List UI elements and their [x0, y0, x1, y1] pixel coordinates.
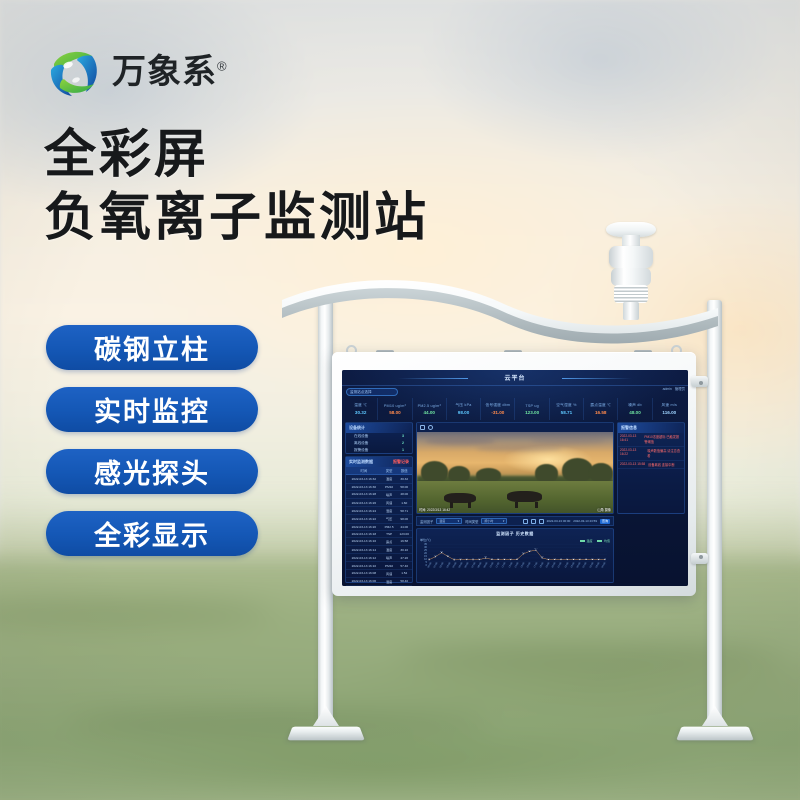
- svg-text:9.4: 9.4: [466, 558, 468, 560]
- table-cell: PM2.5: [382, 523, 397, 530]
- svg-text:15.1: 15.1: [446, 555, 449, 557]
- table-cell: 2022-03-13 16:20: [346, 523, 382, 530]
- device-stats-panel: 设备统计 在线设备3离线设备2报警设备1: [345, 422, 413, 454]
- metric-card-10: 风速 m/s116.00: [653, 398, 686, 420]
- video-timestamp: 时间: 2022/3/13 16:42: [419, 507, 450, 512]
- table-cell: 58.71: [396, 507, 412, 515]
- metric-card-5: 信号强度 dbm-31.00: [481, 398, 515, 420]
- table-row[interactable]: 2022-03-13 16:20PM2.544.00: [346, 523, 412, 530]
- table-cell: 风速: [382, 569, 397, 577]
- chart-unit-label: 单位(℃): [420, 538, 431, 542]
- alarm-log-message: 噪声数值偏高 请注意查看: [647, 448, 682, 458]
- dashboard-ui: 云平台 监测站点选择 admin 管理员 温度 ℃30.32PM10 ug/m³…: [342, 370, 688, 586]
- metric-card-2: PM10 ug/m³58.00: [378, 398, 412, 420]
- feature-pill-label: 碳钢立柱: [94, 328, 210, 367]
- metric-label: 风速 m/s: [653, 403, 686, 408]
- alarm-log-panel: 报警信息 2022-03-13 16:41PM10浓度超标 已触发报警阈值202…: [617, 422, 685, 514]
- table-cell: 2022-03-13 16:22: [346, 515, 382, 523]
- alarm-log-row[interactable]: 2022-03-13 16:41PM10浓度超标 已触发报警阈值: [618, 433, 684, 447]
- metric-value: 98.00: [447, 410, 480, 415]
- table-cell: 2022-03-13 16:32: [346, 475, 382, 483]
- device-stat-row: 在线设备3: [346, 433, 412, 440]
- chart-x-axis: 00:0001:0002:0003:0004:0005:0006:0007:00…: [427, 567, 607, 582]
- table-row[interactable]: 2022-03-13 16:16露点16.58: [346, 537, 412, 545]
- metric-card-8: 露点温度 ℃16.58: [584, 398, 618, 420]
- table-cell: 48.00: [396, 490, 412, 498]
- svg-text:9.4: 9.4: [566, 558, 568, 560]
- time-type-select-value: 按小时: [484, 519, 493, 523]
- table-column-header: 时间: [346, 467, 382, 475]
- line-icon[interactable]: [539, 519, 544, 524]
- svg-text:9.2: 9.2: [459, 558, 461, 560]
- base-plate-left: [287, 727, 365, 741]
- history-chart-panel: 监测因子 历史数据 单位(℃) 温度均值 35302520151050 9.21…: [416, 528, 614, 583]
- device-stat-row: 离线设备2: [346, 440, 412, 447]
- metric-value: 16.58: [584, 410, 617, 415]
- svg-text:14.5: 14.5: [434, 555, 437, 557]
- factor-label: 监测因子: [420, 519, 433, 524]
- device-stats-title-text: 设备统计: [349, 425, 365, 431]
- video-toolbar: [417, 423, 613, 432]
- metric-card-4: 气压 kPa98.00: [447, 398, 481, 420]
- metric-label: PM2.5 ug/m³: [413, 404, 446, 408]
- svg-text:9.3: 9.3: [478, 558, 480, 560]
- svg-text:24.2: 24.2: [528, 550, 531, 552]
- feature-pill-1[interactable]: 碳钢立柱: [46, 325, 258, 370]
- table-row[interactable]: 2022-03-13 16:12噪声47.20: [346, 554, 412, 562]
- metric-card-7: 空气湿度 %58.71: [550, 398, 584, 420]
- cattle-1: [444, 493, 475, 504]
- alarm-log-title-text: 报警信息: [621, 425, 637, 431]
- svg-text:12.2: 12.2: [484, 556, 487, 558]
- site-selector[interactable]: 监测站点选择: [346, 388, 398, 396]
- table-row[interactable]: 2022-03-13 16:14温度30.10: [346, 546, 412, 554]
- metric-value: 123.00: [515, 410, 548, 415]
- sensor-stem: [623, 302, 639, 320]
- realtime-data-title-text: 实时监测数据: [349, 459, 373, 465]
- legend-swatch: [597, 540, 602, 542]
- table-cell: 2022-03-13 16:30: [346, 483, 382, 490]
- time-type-select[interactable]: 按小时 ▾: [481, 518, 507, 524]
- alarm-log-time: 2022-03-13 15:58: [620, 462, 645, 467]
- feature-pill-2[interactable]: 实时监控: [46, 387, 258, 432]
- svg-text:9.1: 9.1: [472, 558, 474, 560]
- table-row[interactable]: 2022-03-13 16:28噪声48.00: [346, 490, 412, 498]
- table-cell: 噪声: [382, 554, 397, 562]
- table-cell: 湿度: [382, 507, 397, 515]
- device-stat-value: 2: [402, 441, 404, 446]
- table-cell: 温度: [382, 475, 397, 483]
- support-post-left: [318, 300, 333, 725]
- table-cell: 2022-03-13 16:12: [346, 554, 382, 562]
- table-cell: 2022-03-13 16:10: [346, 562, 382, 569]
- metric-label: 温度 ℃: [344, 403, 377, 408]
- alarm-log-message: PM10浓度超标 已触发报警阈值: [644, 434, 682, 444]
- alarm-log-time: 2022-03-13 16:41: [620, 434, 641, 444]
- header-accent-right: [562, 378, 632, 379]
- svg-text:26.4: 26.4: [534, 548, 537, 550]
- svg-text:9.8: 9.8: [491, 558, 493, 560]
- headline-block: 全彩屏 负氧离子监测站: [44, 124, 429, 251]
- table-cell: 2022-03-13 16:08: [346, 569, 382, 577]
- base-gusset-right: [702, 706, 728, 726]
- metric-value: 44.00: [413, 410, 446, 415]
- table-row[interactable]: 2022-03-13 16:24湿度58.71: [346, 507, 412, 515]
- feature-pill-label: 实时监控: [94, 390, 210, 429]
- table-cell: 2022-03-13 16:16: [346, 537, 382, 545]
- svg-text:9.0: 9.0: [453, 558, 455, 560]
- realtime-data-table: 时间类型数值 2022-03-13 16:32温度30.322022-03-13…: [346, 467, 412, 586]
- table-row[interactable]: 2022-03-13 16:32温度30.32: [346, 475, 412, 483]
- table-cell: 123.00: [396, 530, 412, 537]
- table-cell: 98.00: [396, 515, 412, 523]
- svg-text:9.2: 9.2: [428, 558, 430, 560]
- led-display-monitor: 云平台 监测站点选择 admin 管理员 温度 ℃30.32PM10 ug/m³…: [332, 352, 696, 596]
- bracket-bolt-bottom: [699, 555, 703, 559]
- metric-label: 露点温度 ℃: [584, 403, 617, 408]
- date-to[interactable]: 2022-03-13 23:59: [573, 519, 597, 523]
- bracket-bolt-top: [699, 381, 703, 385]
- table-cell: PM10: [382, 483, 397, 490]
- brand-lockup: 万象系®: [46, 44, 228, 100]
- video-feed[interactable]: 时间: 2022/3/13 16:42 山角 摄像: [417, 432, 613, 513]
- snapshot-icon[interactable]: [428, 425, 433, 430]
- metric-label: 噪声 db: [618, 403, 651, 408]
- alarm-log-row[interactable]: 2022-03-13 15:58设备离线 连接中断: [618, 461, 684, 470]
- feature-pill-3[interactable]: 感光探头: [46, 449, 258, 494]
- metric-value: -31.00: [481, 410, 514, 415]
- dashboard-header: 云平台: [342, 370, 688, 386]
- feature-pill-label: 全彩显示: [94, 514, 210, 553]
- site-selector-label: 监测站点选择: [350, 390, 372, 395]
- table-cell: 噪声: [382, 490, 397, 498]
- y-tick-label: 0: [417, 564, 427, 567]
- search-button[interactable]: 查询: [600, 519, 610, 524]
- chevron-down-icon: ▾: [458, 519, 460, 523]
- chart-y-axis: 35302520151050: [417, 543, 427, 566]
- table-cell: 30.10: [396, 546, 412, 554]
- svg-text:19.6: 19.6: [522, 552, 525, 554]
- dashboard-title: 云平台: [504, 373, 525, 382]
- table-cell: 2022-03-13 16:06: [346, 577, 382, 585]
- table-column-header: 类型: [382, 467, 397, 475]
- headline-line-2: 负氧离子监测站: [44, 187, 429, 250]
- feature-pill-label: 感光探头: [94, 452, 210, 491]
- sensor-body: [609, 246, 653, 268]
- table-cell: 风速: [382, 498, 397, 506]
- support-post-right: [707, 300, 722, 725]
- table-cell: 气压: [382, 515, 397, 523]
- table-row[interactable]: 2022-03-13 16:26风速1.60: [346, 498, 412, 506]
- alarm-log-time: 2022-03-13 16:22: [620, 448, 644, 458]
- table-cell: 57.40: [396, 562, 412, 569]
- factor-select[interactable]: 温度 ▾: [436, 518, 462, 524]
- radiation-shield-fins: [614, 285, 648, 303]
- monitor-bezel: 云平台 监测站点选择 admin 管理员 温度 ℃30.32PM10 ug/m³…: [332, 352, 696, 596]
- metric-value: 116.00: [653, 410, 686, 415]
- realtime-data-panel: 实时监测数据 报警记录 时间类型数值 2022-03-13 16:32温度30.…: [345, 456, 413, 583]
- svg-text:9.4: 9.4: [547, 558, 549, 560]
- alarm-records-link[interactable]: 报警记录: [393, 459, 409, 465]
- table-cell: 2022-03-13 16:28: [346, 490, 382, 498]
- table-cell: 30.32: [396, 475, 412, 483]
- svg-text:9.4: 9.4: [579, 558, 581, 560]
- user-role: 管理员: [675, 386, 685, 391]
- metric-value: 58.00: [378, 410, 411, 415]
- table-column-header: 数值: [396, 467, 412, 475]
- table-row[interactable]: 2022-03-13 16:30PM1058.00: [346, 483, 412, 490]
- table-cell: 2022-03-13 16:26: [346, 498, 382, 506]
- metric-card-1: 温度 ℃30.32: [344, 398, 378, 420]
- chart-control-bar: 监测因子 温度 ▾ 时间类型 按小时 ▾: [416, 516, 614, 526]
- device-stat-label: 报警设备: [354, 448, 368, 453]
- table-cell: 47.20: [396, 554, 412, 562]
- table-cell: PM10: [382, 562, 397, 569]
- sensor-body-lower: [611, 268, 651, 286]
- svg-text:9.3: 9.3: [604, 558, 606, 560]
- headline-line-1: 全彩屏: [44, 124, 429, 187]
- table-cell: 温度: [382, 546, 397, 554]
- metric-card-3: PM2.5 ug/m³44.00: [413, 398, 447, 420]
- device-stat-value: 3: [402, 434, 404, 439]
- metrics-strip: 温度 ℃30.32PM10 ug/m³58.00PM2.5 ug/m³44.00…: [344, 398, 686, 420]
- metric-label: PM10 ug/m³: [378, 404, 411, 408]
- metric-label: 信号强度 dbm: [481, 403, 514, 408]
- svg-text:9.4: 9.4: [598, 558, 600, 560]
- table-icon[interactable]: [523, 519, 528, 524]
- table-cell: 湿度: [382, 577, 397, 585]
- alarm-log-message: 设备离线 连接中断: [648, 462, 674, 467]
- metric-label: 气压 kPa: [447, 403, 480, 408]
- registered-mark: ®: [217, 59, 228, 74]
- device-stat-row: 报警设备1: [346, 447, 412, 454]
- table-cell: 58.00: [396, 483, 412, 490]
- video-panel: 时间: 2022/3/13 16:42 山角 摄像: [416, 422, 614, 514]
- svg-text:9.3: 9.3: [560, 558, 562, 560]
- factor-select-value: 温度: [439, 519, 445, 523]
- metric-label: TSP ug: [515, 404, 548, 408]
- table-row[interactable]: 2022-03-13 16:18TSP123.00: [346, 530, 412, 537]
- feature-pill-list: 碳钢立柱实时监控感光探头全彩显示: [46, 325, 258, 556]
- video-camera-tag: 山角 摄像: [597, 507, 611, 512]
- device-stat-value: 1: [402, 448, 404, 453]
- realtime-data-title: 实时监测数据 报警记录: [346, 457, 412, 467]
- base-gusset-left: [313, 706, 339, 726]
- metric-card-6: TSP ug123.00: [515, 398, 549, 420]
- metric-label: 空气湿度 %: [550, 403, 583, 408]
- user-name: admin: [663, 387, 672, 391]
- brand-name-text: 万象系: [112, 53, 217, 91]
- table-cell: 2022-03-13 16:24: [346, 507, 382, 515]
- table-cell: 2022-03-13 16:18: [346, 530, 382, 537]
- table-cell: 露点: [382, 537, 397, 545]
- metric-value: 48.00: [618, 410, 651, 415]
- bar-icon[interactable]: [531, 519, 536, 524]
- user-info[interactable]: admin 管理员: [663, 386, 685, 391]
- metric-value: 30.32: [344, 410, 377, 415]
- header-accent-left: [398, 378, 468, 379]
- chevron-down-icon: ▾: [503, 519, 505, 523]
- display-screen[interactable]: 云平台 监测站点选择 admin 管理员 温度 ℃30.32PM10 ug/m³…: [342, 370, 688, 586]
- device-stat-label: 离线设备: [354, 441, 368, 446]
- table-row[interactable]: 2022-03-13 16:06湿度58.40: [346, 577, 412, 585]
- base-plate-right: [676, 727, 754, 741]
- device-stats-title: 设备统计: [346, 423, 412, 433]
- brand-name: 万象系®: [112, 55, 228, 89]
- chart-title: 监测因子 历史数据: [496, 531, 534, 537]
- table-cell: 44.00: [396, 523, 412, 530]
- chart-header: 监测因子 历史数据: [417, 529, 613, 538]
- feature-pill-4[interactable]: 全彩显示: [46, 511, 258, 556]
- table-cell: 1.52: [396, 569, 412, 577]
- table-row[interactable]: 2022-03-13 16:08风速1.52: [346, 569, 412, 577]
- metric-card-9: 噪声 db48.00: [618, 398, 652, 420]
- device-stat-label: 在线设备: [354, 434, 368, 439]
- table-cell: 1.60: [396, 498, 412, 506]
- globe-swirl-icon: [46, 44, 102, 100]
- ultrasonic-weather-sensor-icon: [600, 222, 662, 314]
- legend-swatch: [580, 540, 585, 542]
- date-from[interactable]: 2022-03-13 00:00: [547, 519, 571, 523]
- table-cell: 2022-03-13 16:14: [346, 546, 382, 554]
- table-cell: TSP: [382, 530, 397, 537]
- fullscreen-icon[interactable]: [420, 425, 425, 430]
- table-cell: 16.58: [396, 537, 412, 545]
- table-row[interactable]: 2022-03-13 16:10PM1057.40: [346, 562, 412, 569]
- alarm-log-title: 报警信息: [618, 423, 684, 433]
- metric-value: 58.71: [550, 410, 583, 415]
- alarm-log-row[interactable]: 2022-03-13 16:22噪声数值偏高 请注意查看: [618, 447, 684, 461]
- table-row[interactable]: 2022-03-13 16:22气压98.00: [346, 515, 412, 523]
- time-type-label: 时间类型: [465, 519, 478, 524]
- svg-text:9.4: 9.4: [510, 558, 512, 560]
- table-cell: 58.40: [396, 577, 412, 585]
